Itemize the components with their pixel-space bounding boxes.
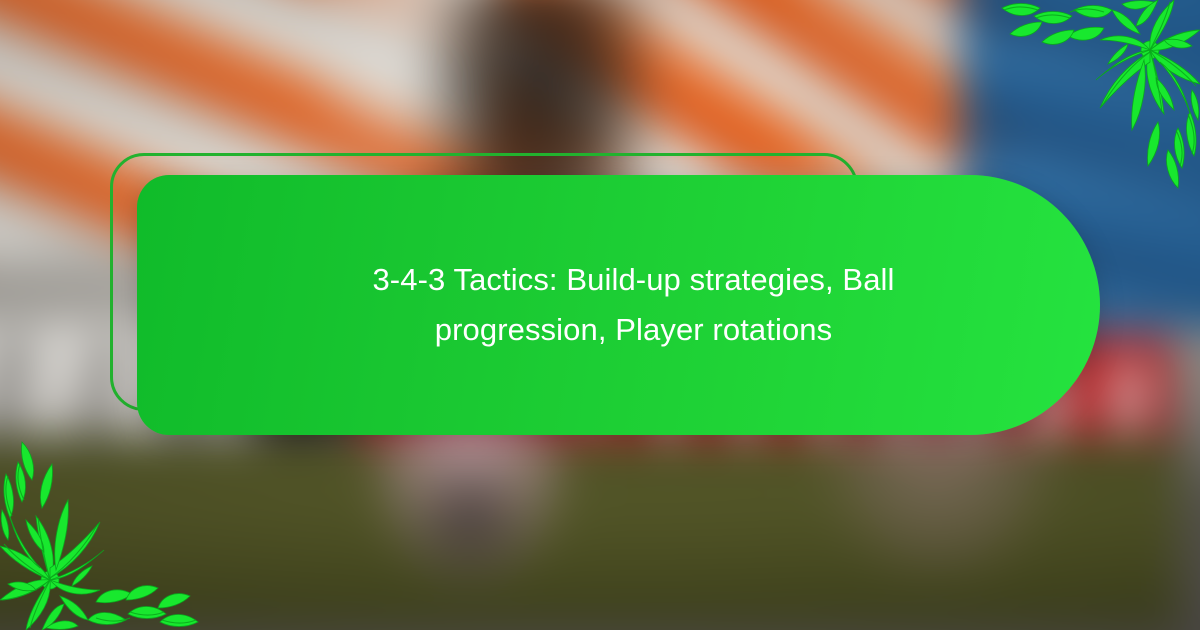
- title-card-group: 3-4-3 Tactics: Build-up strategies, Ball…: [110, 153, 1100, 435]
- page-title: 3-4-3 Tactics: Build-up strategies, Ball…: [304, 255, 964, 355]
- share-card-canvas: 3-4-3 Tactics: Build-up strategies, Ball…: [0, 0, 1200, 630]
- title-card: 3-4-3 Tactics: Build-up strategies, Ball…: [137, 175, 1100, 435]
